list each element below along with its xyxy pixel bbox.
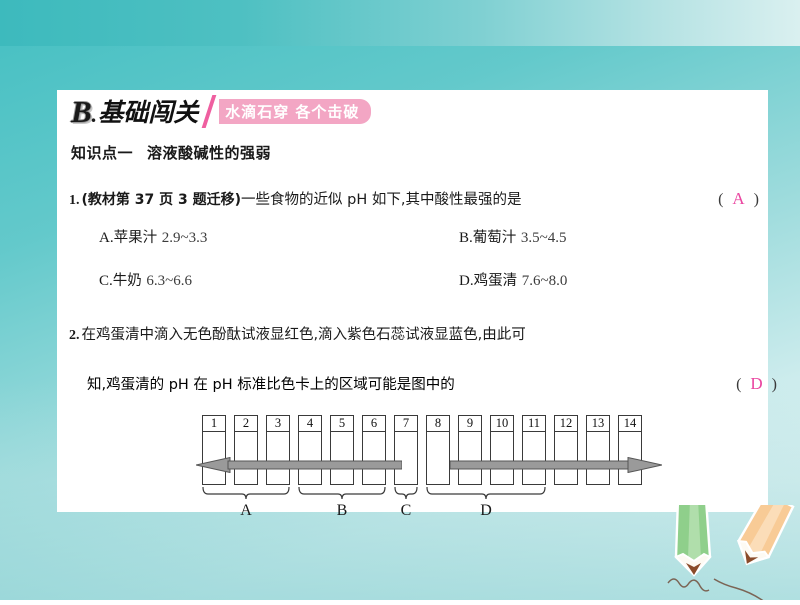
option-b[interactable]: B.葡萄汁 3.5~4.5 xyxy=(429,226,729,247)
option-c-key: C. xyxy=(99,273,113,289)
ph-column-12[interactable]: 12 xyxy=(554,415,578,485)
brace-A xyxy=(202,487,290,500)
ph-scale-diagram: 1413121110987654321 ABCD xyxy=(202,415,662,510)
question-2-answer-slot[interactable]: ( D ) xyxy=(736,374,777,394)
ph-column-number: 12 xyxy=(554,415,578,432)
ph-column-body xyxy=(362,431,386,485)
ph-columns: 1413121110987654321 xyxy=(202,415,648,485)
question-1: 1. (教材第 37 页 3 题迁移) 一些食物的近似 pH 如下,其中酸性最强… xyxy=(69,186,759,212)
ph-column-1[interactable]: 1 xyxy=(202,415,226,485)
ph-column-body xyxy=(330,431,354,485)
question-1-source: (教材第 37 页 3 题迁移) xyxy=(82,190,242,211)
question-1-answer: A xyxy=(732,186,744,212)
option-d-key: D. xyxy=(459,273,474,289)
question-2-stem-line-1: 2. 在鸡蛋清中滴入无色酚酞试液显红色,滴入紫色石蕊试液显蓝色,由此可 xyxy=(69,325,759,347)
ph-column-6[interactable]: 6 xyxy=(362,415,386,485)
ph-column-4[interactable]: 4 xyxy=(298,415,322,485)
ph-column-11[interactable]: 11 xyxy=(522,415,546,485)
option-a-range: 2.9~3.3 xyxy=(162,230,208,246)
brace-D xyxy=(426,487,546,500)
question-1-stem-line: 1. (教材第 37 页 3 题迁移) 一些食物的近似 pH 如下,其中酸性最强… xyxy=(69,186,759,212)
section-badge-letter: B xyxy=(71,96,91,127)
option-a-key: A. xyxy=(99,230,114,246)
knowledge-point-heading: 知识点一溶液酸碱性的强弱 xyxy=(71,142,271,163)
top-color-band xyxy=(0,0,800,46)
question-1-answer-slot[interactable]: ( A ) xyxy=(718,186,759,212)
brace-label-C: C xyxy=(401,502,412,520)
ph-column-body xyxy=(522,431,546,485)
option-d-range: 7.6~8.0 xyxy=(522,273,568,289)
paren-close: ) xyxy=(754,188,759,212)
option-c-name: 牛奶 xyxy=(113,273,142,289)
option-c-range: 6.3~6.6 xyxy=(146,273,192,289)
ph-column-body xyxy=(458,431,482,485)
question-1-stem: 一些食物的近似 pH 如下,其中酸性最强的是 xyxy=(241,190,521,212)
option-b-range: 3.5~4.5 xyxy=(521,230,567,246)
paren-close: ) xyxy=(772,376,777,394)
paren-open: ( xyxy=(718,188,723,212)
ph-column-body xyxy=(394,431,418,485)
motto-text: 水滴石穿 各个击破 xyxy=(225,101,359,122)
ph-column-3[interactable]: 3 xyxy=(266,415,290,485)
question-2-stem-line-2: 知,鸡蛋清的 pH 在 pH 标准比色卡上的区域可能是图中的 ( D ) xyxy=(69,373,777,394)
ph-column-5[interactable]: 5 xyxy=(330,415,354,485)
question-2-stem-line1: 在鸡蛋清中滴入无色酚酞试液显红色,滴入紫色石蕊试液显蓝色,由此可 xyxy=(82,325,526,347)
ph-column-body xyxy=(554,431,578,485)
question-1-options: A.苹果汁 2.9~3.3 B.葡萄汁 3.5~4.5 C.牛奶 6.3~6.6… xyxy=(69,226,729,290)
ph-column-2[interactable]: 2 xyxy=(234,415,258,485)
squiggle-right-icon xyxy=(714,579,775,600)
ph-column-number: 3 xyxy=(266,415,290,432)
brace-B xyxy=(298,487,386,500)
paren-open: ( xyxy=(736,376,741,394)
question-2-answer: D xyxy=(750,374,762,394)
option-b-key: B. xyxy=(459,230,473,246)
brace-C xyxy=(394,487,418,500)
squiggle-left-icon xyxy=(668,579,709,591)
ph-column-8[interactable]: 8 xyxy=(426,415,450,485)
orange-pencil-icon xyxy=(731,505,795,571)
ph-column-body xyxy=(586,431,610,485)
brace-label-A: A xyxy=(240,502,252,520)
slide-background: B . 基础闯关 水滴石穿 各个击破 知识点一溶液酸碱性的强弱 1. (教材第 … xyxy=(0,0,800,600)
ph-column-number: 6 xyxy=(362,415,386,432)
option-c[interactable]: C.牛奶 6.3~6.6 xyxy=(69,269,429,290)
option-b-name: 葡萄汁 xyxy=(473,230,517,246)
ph-column-13[interactable]: 13 xyxy=(586,415,610,485)
ph-column-body xyxy=(490,431,514,485)
ph-column-number: 9 xyxy=(458,415,482,432)
option-a[interactable]: A.苹果汁 2.9~3.3 xyxy=(69,226,429,247)
section-title: 基础闯关 xyxy=(98,93,198,129)
ph-column-number: 13 xyxy=(586,415,610,432)
option-d[interactable]: D.鸡蛋清 7.6~8.0 xyxy=(429,269,729,290)
knowledge-point-label: 知识点一 xyxy=(71,144,133,162)
brace-label-D: D xyxy=(480,502,492,520)
question-2-stem-line2: 知,鸡蛋清的 pH 在 pH 标准比色卡上的区域可能是图中的 xyxy=(87,373,455,394)
ph-column-10[interactable]: 10 xyxy=(490,415,514,485)
motto-ribbon: 水滴石穿 各个击破 xyxy=(219,99,371,124)
content-panel: B . 基础闯关 水滴石穿 各个击破 知识点一溶液酸碱性的强弱 1. (教材第 … xyxy=(57,90,768,512)
ph-column-9[interactable]: 9 xyxy=(458,415,482,485)
ph-column-body xyxy=(202,431,226,485)
ph-column-number: 1 xyxy=(202,415,226,432)
question-2: 2. 在鸡蛋清中滴入无色酚酞试液显红色,滴入紫色石蕊试液显蓝色,由此可 xyxy=(69,325,759,347)
ph-group-brackets xyxy=(202,487,648,501)
ph-column-number: 5 xyxy=(330,415,354,432)
question-1-number: 1. xyxy=(69,190,80,211)
green-pencil-icon xyxy=(676,505,710,575)
pencils-decoration xyxy=(666,505,800,600)
ph-column-number: 11 xyxy=(522,415,546,432)
question-2-number: 2. xyxy=(69,325,80,346)
ph-column-7[interactable]: 7 xyxy=(394,415,418,485)
ph-column-number: 10 xyxy=(490,415,514,432)
ph-column-number: 14 xyxy=(618,415,642,432)
knowledge-point-title: 溶液酸碱性的强弱 xyxy=(147,144,271,162)
ph-column-number: 4 xyxy=(298,415,322,432)
ph-column-number: 8 xyxy=(426,415,450,432)
ph-column-body xyxy=(234,431,258,485)
ph-column-body xyxy=(298,431,322,485)
ph-column-number: 2 xyxy=(234,415,258,432)
slash-divider xyxy=(202,95,217,128)
ph-column-body xyxy=(266,431,290,485)
ph-column-14[interactable]: 14 xyxy=(618,415,642,485)
brace-label-B: B xyxy=(337,502,348,520)
ph-column-body xyxy=(426,431,450,485)
section-badge-dot: . xyxy=(91,102,97,130)
section-header: B . 基础闯关 水滴石穿 各个击破 xyxy=(71,92,371,130)
ph-column-number: 7 xyxy=(394,415,418,432)
ph-group-labels: ABCD xyxy=(202,501,648,523)
option-d-name: 鸡蛋清 xyxy=(474,273,518,289)
ph-column-body xyxy=(618,431,642,485)
option-a-name: 苹果汁 xyxy=(114,230,158,246)
